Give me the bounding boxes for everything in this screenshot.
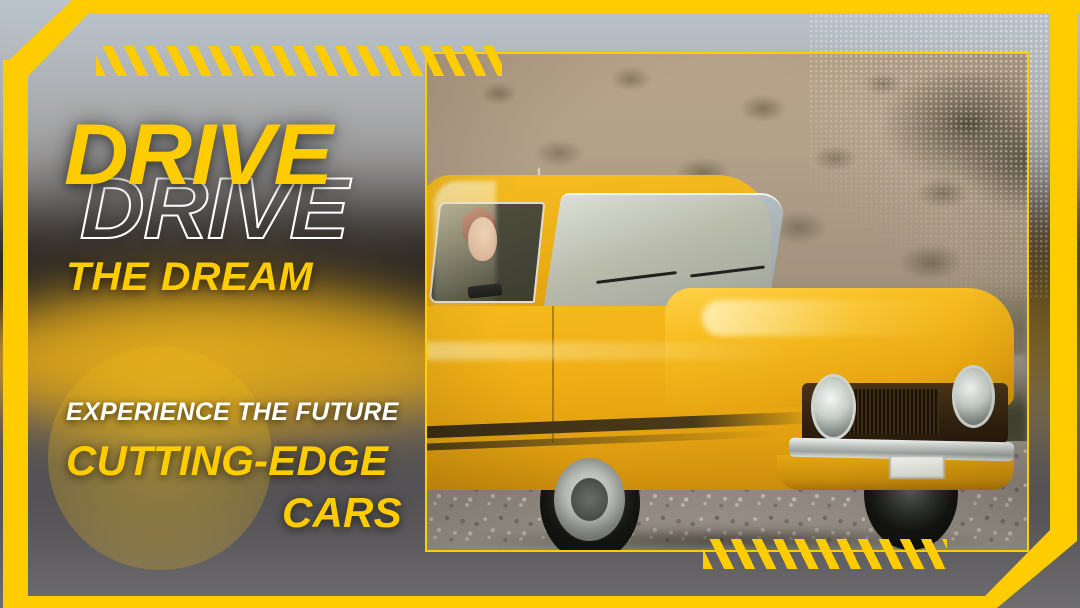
car-headlight-right [952, 365, 996, 427]
poster-canvas: DRIVE DRIVE THE DREAM EXPERIENCE THE FUT… [0, 0, 1080, 608]
car-headlight-left [811, 374, 856, 439]
title-word-solid: DRIVE [64, 112, 332, 198]
promo-kicker: EXPERIENCE THE FUTURE [66, 398, 399, 427]
promo-headline-line1: CUTTING-EDGE [66, 437, 388, 485]
classic-car [427, 252, 1027, 550]
car-side-highlight [427, 342, 802, 360]
title-subtitle: THE DREAM [66, 255, 313, 300]
car-license-plate [889, 455, 945, 479]
hero-photo-panel [425, 52, 1029, 552]
hero-photo [427, 54, 1027, 550]
car-rear-rim [554, 458, 626, 541]
car-hood-highlight [702, 300, 952, 336]
promo-headline-line2: CARS [282, 489, 402, 537]
title-stack: DRIVE DRIVE [64, 112, 424, 252]
